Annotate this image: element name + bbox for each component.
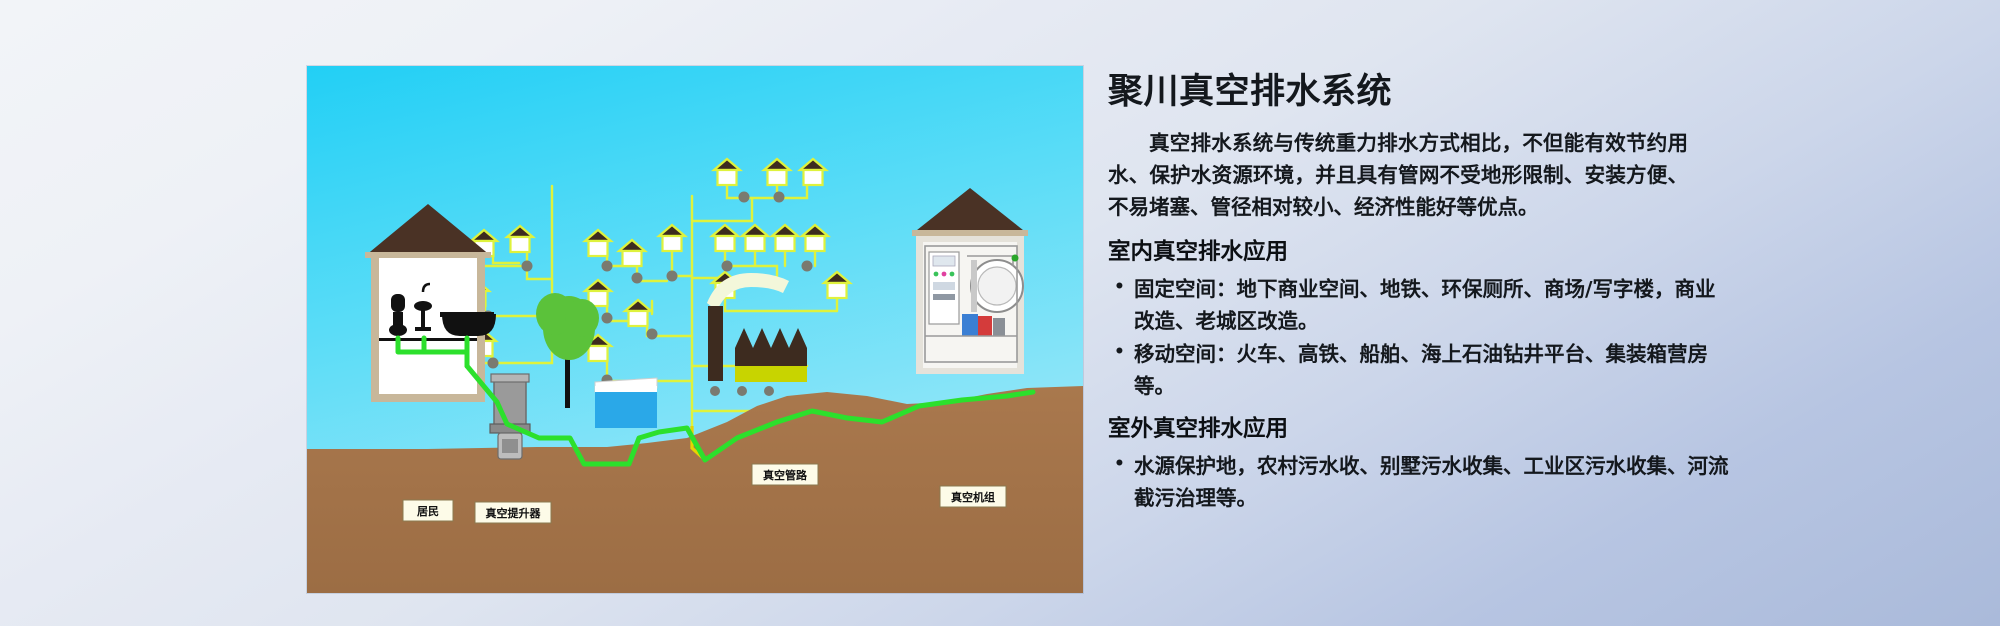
label-vacuum-unit-text: 真空机组 bbox=[951, 490, 995, 504]
list-item: 移动空间：火车、高铁、船舶、海上石油钻井平台、集装箱营房等。 bbox=[1108, 339, 1734, 403]
list-item: 水源保护地，农村污水收、别墅污水收集、工业区污水收集、河流截污治理等。 bbox=[1108, 451, 1734, 515]
section-heading-outdoor: 室外真空排水应用 bbox=[1108, 415, 1808, 444]
intro-paragraph: 真空排水系统与传统重力排水方式相比，不但能有效节约用水、保护水资源环境，并且具有… bbox=[1108, 128, 1688, 223]
diagram-label-vacuum-unit: 真空机组 bbox=[940, 486, 1006, 507]
diagram-label-lift-station: 真空提升器 bbox=[475, 502, 551, 523]
system-diagram-illustration: 居民 真空提升器 真空管路 真空机组 bbox=[307, 66, 1083, 593]
info-text-column: 聚川真空排水系统 真空排水系统与传统重力排水方式相比，不但能有效节约用水、保护水… bbox=[1108, 72, 1808, 519]
diagram-label-vacuum-pipe: 真空管路 bbox=[752, 464, 818, 485]
outdoor-application-list: 水源保护地，农村污水收、别墅污水收集、工业区污水收集、河流截污治理等。 bbox=[1108, 451, 1808, 515]
label-resident-text: 居民 bbox=[417, 505, 439, 518]
indoor-application-list: 固定空间：地下商业空间、地铁、环保厕所、商场/写字楼，商业改造、老城区改造。 移… bbox=[1108, 274, 1808, 403]
list-item: 固定空间：地下商业空间、地铁、环保厕所、商场/写字楼，商业改造、老城区改造。 bbox=[1108, 274, 1734, 338]
label-vacuum-pipe-text: 真空管路 bbox=[763, 468, 808, 482]
page-title: 聚川真空排水系统 bbox=[1108, 72, 1808, 112]
collection-tank bbox=[595, 378, 657, 428]
diagram-label-resident: 居民 bbox=[403, 500, 453, 521]
label-lift-station-text: 真空提升器 bbox=[486, 506, 542, 520]
section-heading-indoor: 室内真空排水应用 bbox=[1108, 238, 1808, 267]
